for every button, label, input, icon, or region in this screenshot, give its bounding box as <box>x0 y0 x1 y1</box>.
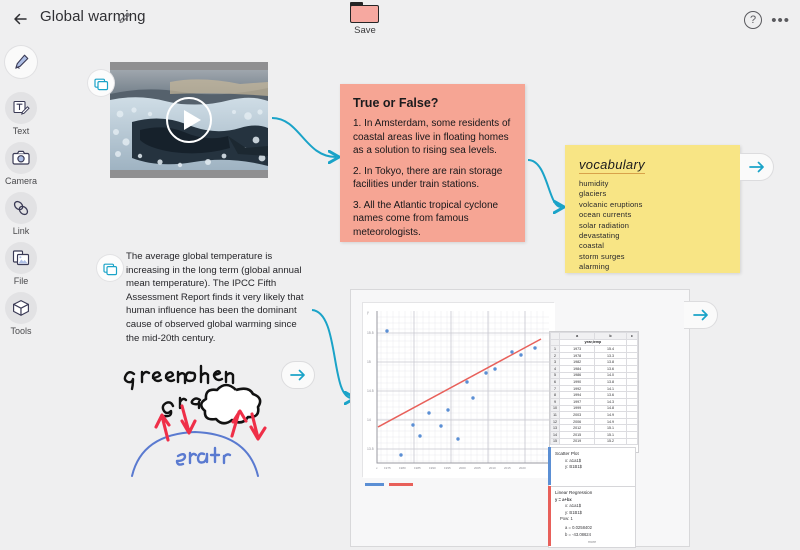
svg-text:1995: 1995 <box>444 466 451 470</box>
table-row: 4198413.6 <box>551 365 638 372</box>
svg-text:15: 15 <box>367 360 371 364</box>
back-arrow-icon[interactable] <box>10 8 32 30</box>
true-false-item: 1. In Amsterdam, some residents of coast… <box>353 117 512 158</box>
svg-text:1975: 1975 <box>384 466 391 470</box>
tool-rail: Text Camera Link <box>0 44 40 550</box>
col-c: c <box>626 333 637 340</box>
table-row: 5198614.0 <box>551 372 638 379</box>
rail-label-file: File <box>3 276 39 286</box>
true-false-item: 2. In Tokyo, there are rain storage faci… <box>353 165 512 192</box>
vocabulary-word: devastating <box>579 231 726 241</box>
scatter-panel-row: y: B1B1$ <box>565 464 635 469</box>
table-row: 3198213.8 <box>551 359 638 366</box>
greenhouse-gas-sketch[interactable] <box>110 352 310 477</box>
svg-text:1990: 1990 <box>429 466 436 470</box>
save-label: Save <box>345 25 385 36</box>
arrow-right-icon <box>691 307 711 323</box>
svg-text:2020: 2020 <box>519 466 526 470</box>
vocabulary-word: coastal <box>579 241 726 251</box>
video-badge-icon <box>88 70 114 96</box>
linreg-more-link[interactable]: more <box>549 540 635 544</box>
table-row: 14201515.1 <box>551 431 638 438</box>
vocabulary-word: storm surges <box>579 252 726 262</box>
scatter-panel-row: x: a1a1$ <box>565 458 635 463</box>
earth-handwriting <box>177 448 230 465</box>
play-button-icon[interactable] <box>166 97 212 143</box>
connector-video-to-note <box>272 118 336 157</box>
svg-text:13.5: 13.5 <box>367 447 374 451</box>
scatter-plot-svg: 15.515 14.51413.5 y x 197519801985 19901… <box>363 303 555 478</box>
table-header-row: a b c <box>551 333 638 340</box>
col-a: a <box>560 333 595 340</box>
spreadsheet-panel[interactable]: a b c year,temp 1197315.4 2197813.3 3198… <box>549 331 639 453</box>
table-subheader-row: year,temp <box>551 339 638 346</box>
arrow-right-icon <box>288 367 308 383</box>
save-button[interactable]: Save <box>345 2 385 36</box>
text-tool-icon <box>5 92 37 124</box>
table-row: 10199914.8 <box>551 405 638 412</box>
expand-sketch-arrow[interactable] <box>281 361 315 389</box>
highlighter-pen-icon <box>5 46 37 78</box>
table-row: 2197813.3 <box>551 352 638 359</box>
table-row: 1197315.4 <box>551 346 638 353</box>
rail-label-link: Link <box>3 226 39 236</box>
legend-swatch-data <box>365 483 384 486</box>
video-card[interactable] <box>110 62 268 178</box>
top-bar: Global warming Save ? ••• <box>0 0 800 44</box>
linreg-row: x: a1a1$ <box>565 503 635 508</box>
linreg-coef: b = -43.08624 <box>565 532 635 537</box>
paragraph-text: The average global temperature is increa… <box>126 250 308 345</box>
svg-text:14.5: 14.5 <box>367 389 374 393</box>
vocabulary-word: solar radiation <box>579 221 726 231</box>
vocabulary-word: volcanic eruptions <box>579 200 726 210</box>
rail-item-pen[interactable] <box>3 46 39 80</box>
scatter-panel-title: Scatter Plot <box>555 451 635 456</box>
rail-item-text[interactable]: Text <box>3 92 39 136</box>
svg-text:1980: 1980 <box>399 466 406 470</box>
true-false-note[interactable]: True or False? 1. In Amsterdam, some res… <box>340 84 525 242</box>
true-false-title: True or False? <box>353 96 512 110</box>
linreg-row: Pow: 1 <box>560 516 635 521</box>
connector-para-to-chart <box>312 310 352 398</box>
true-false-item: 3. All the Atlantic tropical cyclone nam… <box>353 199 512 240</box>
folder-save-icon <box>350 2 380 24</box>
pencil-edit-icon[interactable] <box>118 11 132 25</box>
vocabulary-list: humidity glaciers volcanic eruptions oce… <box>579 179 726 273</box>
scatter-panel-accent-bar <box>548 447 551 485</box>
rail-item-link[interactable]: Link <box>3 192 39 236</box>
arrow-right-icon <box>747 159 767 175</box>
rail-label-tools: Tools <box>3 326 39 336</box>
vocabulary-word: glaciers <box>579 189 726 199</box>
more-options-icon[interactable]: ••• <box>771 12 790 29</box>
chart-card[interactable]: 15.515 14.51413.5 y x 197519801985 19901… <box>350 289 690 547</box>
svg-text:2015: 2015 <box>504 466 511 470</box>
app-root: Global warming Save ? ••• <box>0 0 800 550</box>
expand-chart-arrow[interactable] <box>684 301 718 329</box>
scatter-settings-panel[interactable]: Scatter Plot x: a1a1$ y: B1B1$ <box>548 447 636 487</box>
vocabulary-note[interactable]: vocabulary humidity glaciers volcanic er… <box>565 145 740 273</box>
table-row: 8199413.6 <box>551 392 638 399</box>
file-image-icon <box>5 242 37 274</box>
svg-text:2000: 2000 <box>459 466 466 470</box>
connector-note-to-vocab <box>528 160 561 207</box>
link-chain-icon <box>5 192 37 224</box>
table-row: 13201215.1 <box>551 425 638 432</box>
svg-text:15.5: 15.5 <box>367 331 374 335</box>
linreg-equation: y = a+bx <box>555 497 635 502</box>
spreadsheet-table: a b c year,temp 1197315.4 2197813.3 3198… <box>550 332 638 445</box>
svg-text:14: 14 <box>367 418 371 422</box>
svg-text:1985: 1985 <box>414 466 421 470</box>
rail-item-camera[interactable]: Camera <box>3 142 39 186</box>
table-row: 12200614.9 <box>551 418 638 425</box>
svg-text:2005: 2005 <box>474 466 481 470</box>
help-circle-icon[interactable]: ? <box>744 11 762 29</box>
expand-vocabulary-arrow[interactable] <box>740 153 774 181</box>
linreg-panel-accent-bar <box>548 486 551 546</box>
table-row: 11200314.9 <box>551 412 638 419</box>
subheader-cell: year,temp <box>560 339 627 346</box>
table-row: 9199714.3 <box>551 398 638 405</box>
legend-swatch-regression <box>389 483 413 486</box>
table-row: 7199214.1 <box>551 385 638 392</box>
linreg-panel-title: Linear Regression <box>555 490 635 495</box>
rail-item-tools[interactable]: Tools <box>3 292 39 336</box>
vocabulary-word: humidity <box>579 179 726 189</box>
linreg-row: y: B1B1$ <box>565 510 635 515</box>
chart-legend <box>365 482 541 488</box>
col-corner <box>551 333 560 340</box>
table-row: 6199013.8 <box>551 379 638 386</box>
col-b: b <box>595 333 626 340</box>
vocabulary-title: vocabulary <box>579 157 645 174</box>
vocabulary-word: ocean currents <box>579 210 726 220</box>
vocabulary-word: alarming <box>579 262 726 272</box>
linreg-coef: a = 0.0258402 <box>565 525 635 530</box>
scatter-plot[interactable]: 15.515 14.51413.5 y x 197519801985 19901… <box>362 302 554 477</box>
toolbox-cube-icon <box>5 292 37 324</box>
camera-icon <box>5 142 37 174</box>
table-row: 15201915.2 <box>551 438 638 445</box>
paragraph-badge-icon <box>97 255 123 281</box>
svg-text:2010: 2010 <box>489 466 496 470</box>
rail-label-camera: Camera <box>3 176 39 186</box>
rail-label-text: Text <box>3 126 39 136</box>
svg-text:y: y <box>367 311 369 315</box>
rail-item-file[interactable]: File <box>3 242 39 286</box>
linear-regression-panel[interactable]: Linear Regression y = a+bx x: a1a1$ y: B… <box>548 486 636 548</box>
